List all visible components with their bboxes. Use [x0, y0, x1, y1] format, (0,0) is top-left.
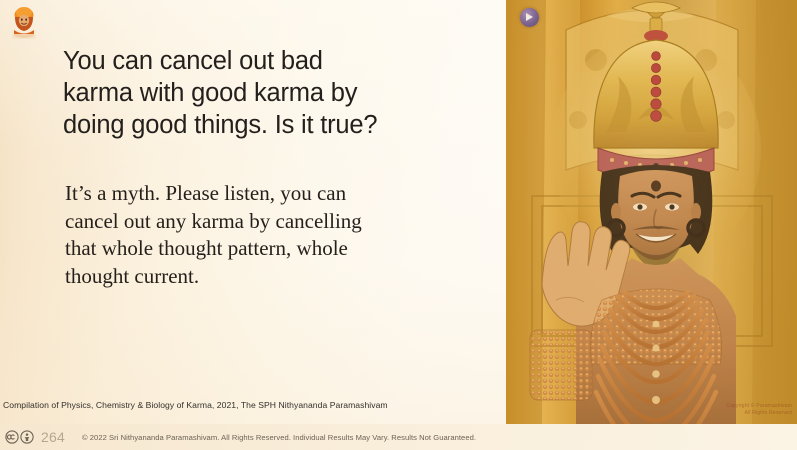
brand-logo-icon [8, 4, 40, 40]
slide-canvas: You can cancel out bad karma with good k… [0, 0, 797, 450]
attribution-icon [20, 430, 34, 444]
figure-photograph: Copyright © Paramashivam All Rights Rese… [506, 0, 797, 424]
license-icons [5, 430, 34, 444]
play-badge-icon[interactable] [520, 8, 539, 27]
photo-watermark: Copyright © Paramashivam All Rights Rese… [672, 403, 792, 416]
slide-body-text: It’s a myth. Please listen, you can canc… [65, 180, 465, 290]
play-triangle-icon [526, 13, 533, 21]
page-number: 264 [41, 429, 65, 445]
slide-headline: You can cancel out bad karma with good k… [63, 45, 463, 141]
bottom-bar: 264 © 2022 Sri Nithyananda Paramashivam.… [0, 424, 797, 450]
copyright-notice: © 2022 Sri Nithyananda Paramashivam. All… [82, 433, 476, 442]
creative-commons-icon [5, 430, 19, 444]
source-citation: Compilation of Physics, Chemistry & Biol… [3, 400, 388, 411]
